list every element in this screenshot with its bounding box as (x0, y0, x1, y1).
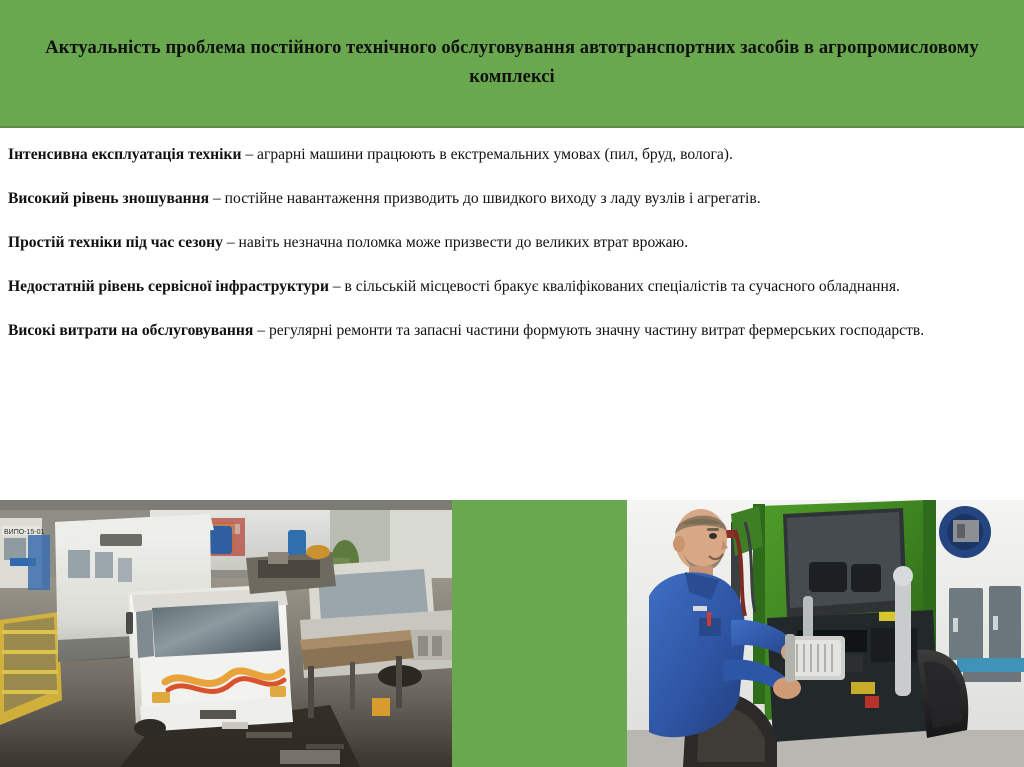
photo-strip: ВИПО-15-01 (0, 500, 1024, 767)
slide: Актуальність проблема постійного технічн… (0, 0, 1024, 767)
bullet-5-lead: Високі витрати на обслуговування (8, 322, 253, 339)
bullet-paragraph-1: Інтенсивна експлуатація техніки – аграрн… (8, 142, 1010, 168)
slide-header-band: Актуальність проблема постійного технічн… (0, 0, 1024, 128)
mechanic-tractor-service-photo (627, 500, 1024, 767)
tractor-service-scene-illustration (627, 500, 1024, 767)
body-text-area: Інтенсивна експлуатація техніки – аграрн… (0, 128, 1024, 500)
bullet-3-rest: – навіть незначна поломка може призвести… (223, 234, 688, 251)
bullet-4-lead: Недостатній рівень сервісної інфраструкт… (8, 278, 329, 295)
bullet-4-rest: – в сільській місцевості бракує кваліфік… (329, 278, 900, 295)
bullet-3-lead: Простій техніки під час сезону (8, 234, 223, 251)
bullet-5-rest: – регулярні ремонти та запасні частини ф… (253, 322, 924, 339)
workshop-garage-trucks-photo: ВИПО-15-01 (0, 500, 452, 767)
green-divider-band (452, 500, 627, 767)
bullet-1-lead: Інтенсивна експлуатація техніки (8, 146, 241, 163)
bullet-paragraph-3: Простій техніки під час сезону – навіть … (8, 230, 1010, 256)
page-title: Актуальність проблема постійного технічн… (31, 34, 993, 92)
bullet-2-rest: – постійне навантаження призводить до шв… (209, 190, 761, 207)
bullet-paragraph-4: Недостатній рівень сервісної інфраструкт… (8, 274, 1010, 300)
bullet-paragraph-2: Високий рівень зношування – постійне нав… (8, 186, 1010, 212)
air-filter-part (785, 634, 845, 682)
workshop-scene-illustration: ВИПО-15-01 (0, 500, 452, 767)
equipment-label: ВИПО-15-01 (4, 529, 45, 536)
bullet-paragraph-5: Високі витрати на обслуговування – регул… (8, 318, 1010, 344)
bullet-1-rest: – аграрні машини працюють в екстремальни… (241, 146, 732, 163)
bullet-2-lead: Високий рівень зношування (8, 190, 209, 207)
white-truck (126, 586, 293, 737)
